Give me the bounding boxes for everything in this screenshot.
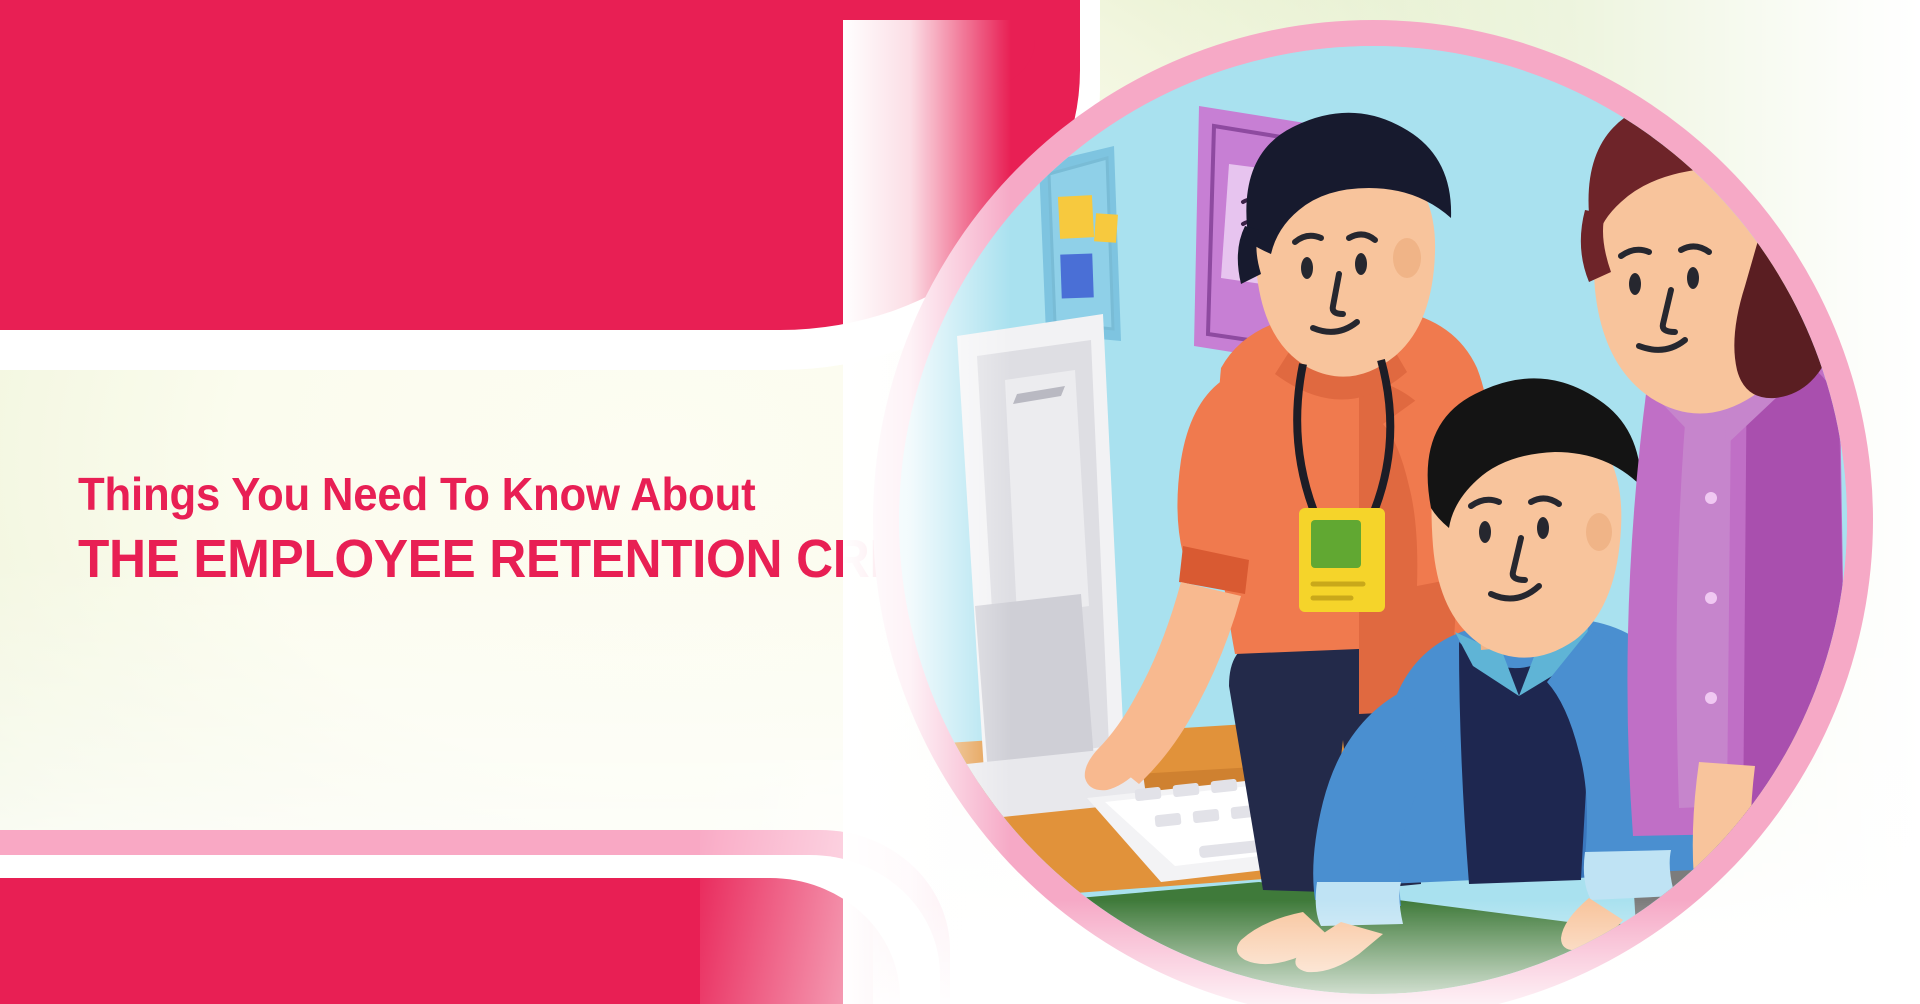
office-scene-illustration	[899, 46, 1847, 994]
blue-bulletin-board	[1039, 146, 1121, 341]
headline-line-1: Things You Need To Know About	[78, 470, 876, 518]
illustration-circle	[873, 20, 1873, 1004]
circle-scene-disc	[899, 46, 1847, 994]
headline-block: Things You Need To Know About THE EMPLOY…	[78, 470, 918, 587]
headline-line-2: THE EMPLOYEE RETENTION CREDIT	[78, 532, 876, 587]
blog-header-banner: Things You Need To Know About THE EMPLOY…	[0, 0, 1920, 1004]
